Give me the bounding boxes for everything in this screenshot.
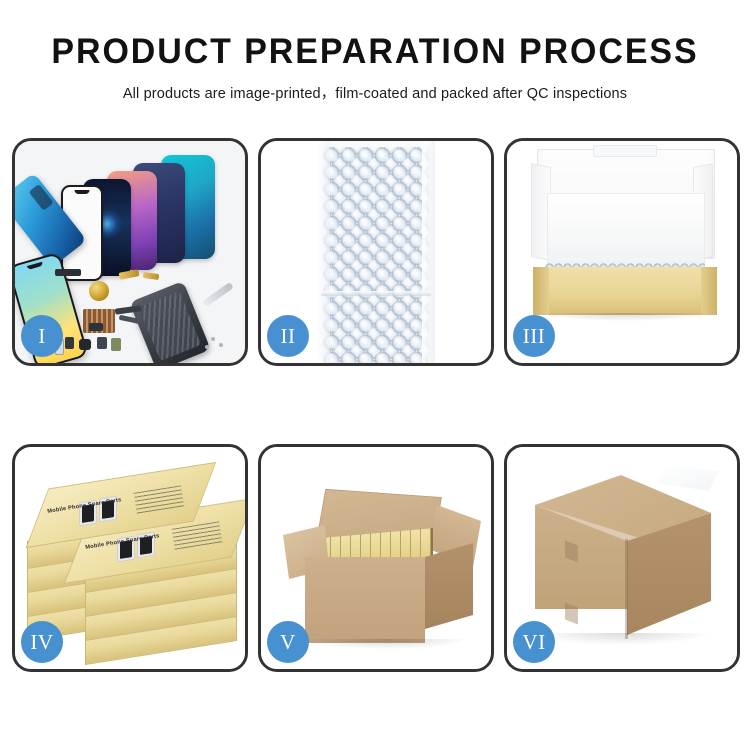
bubble-wrap-sheet bbox=[317, 141, 435, 363]
step-badge-5: V bbox=[267, 621, 309, 663]
panel-step-6: VI bbox=[504, 444, 740, 672]
small-part-icon bbox=[89, 323, 103, 331]
panel-step-2: II bbox=[258, 138, 494, 366]
panel-step-4: Mobile Phone Spare Parts Mobile Phone Sp… bbox=[12, 444, 248, 672]
kraft-tray-base bbox=[533, 267, 717, 315]
wrap-fold-line bbox=[321, 291, 431, 296]
drop-shadow bbox=[537, 313, 713, 321]
header: PRODUCT PREPARATION PROCESS All products… bbox=[0, 0, 750, 103]
carton-front-face bbox=[305, 557, 425, 643]
step-badge-4: IV bbox=[21, 621, 63, 663]
kraft-tray-lip-right bbox=[701, 267, 717, 315]
panel-step-5: V bbox=[258, 444, 494, 672]
small-part-icon bbox=[65, 337, 74, 349]
small-part-icon bbox=[111, 338, 121, 351]
step-badge-6: VI bbox=[513, 621, 555, 663]
panel-step-3: III bbox=[504, 138, 740, 366]
page-subtitle: All products are image-printed，film-coat… bbox=[0, 82, 750, 103]
wrap-edge-left bbox=[317, 141, 330, 363]
bubble-highlight-overlay bbox=[323, 147, 429, 363]
drop-shadow bbox=[537, 633, 709, 645]
tweezers-tool-icon bbox=[202, 282, 234, 307]
process-panel-grid: I II bbox=[12, 138, 738, 672]
small-part-icon bbox=[97, 337, 107, 349]
protective-film bbox=[657, 465, 719, 491]
infographic-page: PRODUCT PREPARATION PROCESS All products… bbox=[0, 0, 750, 750]
step-badge-1: I bbox=[21, 315, 63, 357]
carton-side-face bbox=[425, 543, 473, 629]
wrap-edge-right bbox=[422, 141, 435, 363]
coil-part-icon bbox=[89, 281, 109, 301]
kraft-tray-lip-left bbox=[533, 267, 549, 315]
carton-edge-seam bbox=[625, 539, 628, 639]
phone-opened-chassis-icon bbox=[129, 281, 210, 363]
panel-step-1: I bbox=[12, 138, 248, 366]
drop-shadow bbox=[307, 639, 467, 649]
step-badge-2: II bbox=[267, 315, 309, 357]
gold-connector-part-icon bbox=[143, 272, 160, 280]
small-part-icon bbox=[79, 339, 91, 350]
box-lid-tab bbox=[593, 145, 657, 157]
foam-insert bbox=[547, 193, 705, 273]
carton-tab-icon bbox=[565, 603, 578, 625]
screw-icon bbox=[219, 343, 223, 347]
screw-icon bbox=[211, 337, 215, 341]
step-badge-3: III bbox=[513, 315, 555, 357]
speaker-bar-part-icon bbox=[55, 269, 81, 276]
page-title: PRODUCT PREPARATION PROCESS bbox=[11, 34, 739, 71]
screw-icon bbox=[205, 345, 209, 349]
